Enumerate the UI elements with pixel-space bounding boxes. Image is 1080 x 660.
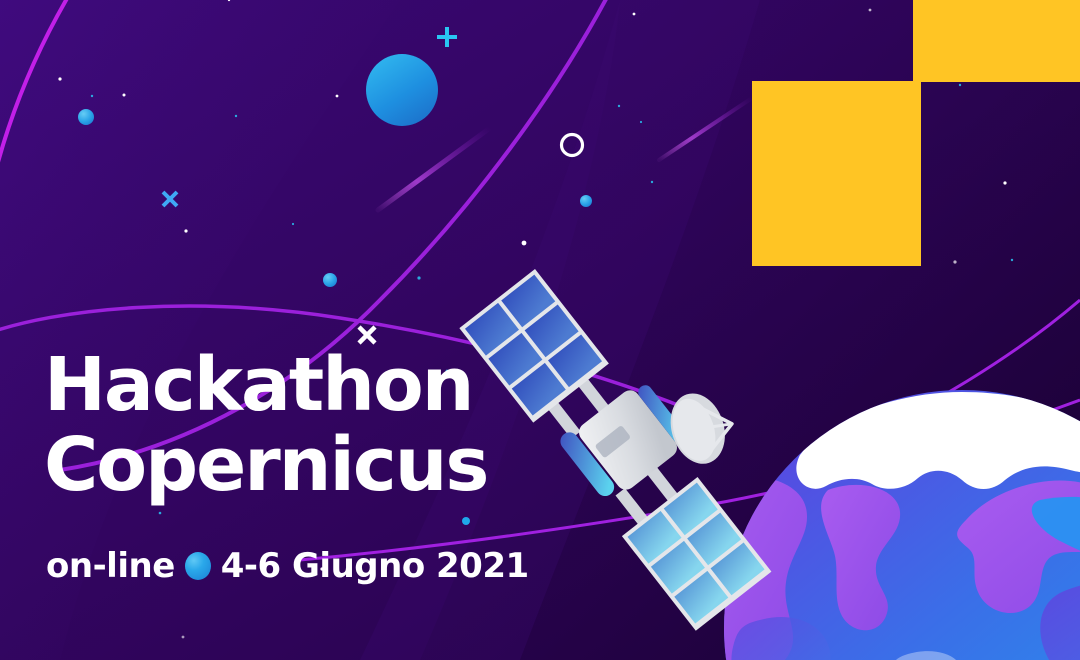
poster-canvas: Hackathon Copernicus on-line 4-6 Giugno … bbox=[0, 0, 1080, 660]
yellow-block-top-right bbox=[913, 0, 1080, 82]
dot-blue-large bbox=[78, 109, 94, 125]
planet-blue bbox=[366, 54, 438, 126]
dot-blue-tiny bbox=[462, 517, 470, 525]
dot-blue-mid bbox=[323, 273, 337, 287]
yellow-block-inner bbox=[752, 81, 921, 266]
dot-blue-small bbox=[580, 195, 592, 207]
poster-artwork bbox=[0, 0, 1080, 660]
